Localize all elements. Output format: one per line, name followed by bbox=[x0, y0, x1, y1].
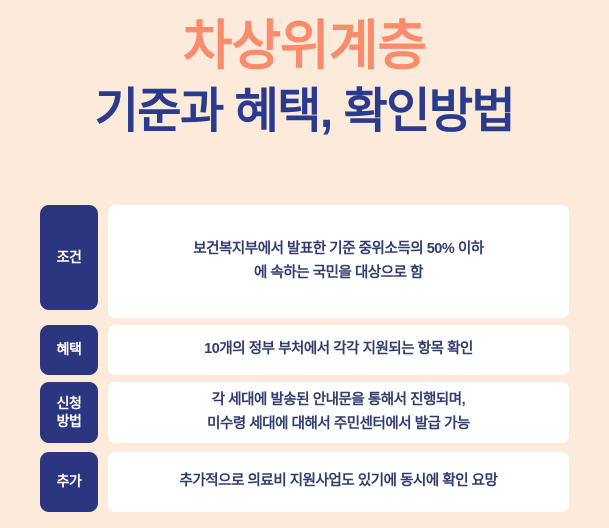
info-row: 혜택 10개의 정부 부처에서 각각 지원되는 항목 확인 bbox=[0, 325, 609, 375]
info-row: 신청 방법 각 세대에 발송된 안내문을 통해서 진행되며, 미수령 세대에 대… bbox=[0, 382, 609, 443]
row-content-text: 10개의 정부 부처에서 각각 지원되는 항목 확인 bbox=[108, 338, 569, 361]
row-content-card-additional: 추가적으로 의료비 지원사업도 있기에 동시에 확인 요망 bbox=[108, 452, 569, 512]
infographic-canvas: 차상위계층 기준과 혜택, 확인방법 조건 보건복지부에서 발표한 기준 중위소… bbox=[0, 0, 609, 528]
row-label-text: 혜택 bbox=[57, 341, 82, 359]
row-label-text: 신청 방법 bbox=[57, 395, 82, 430]
info-row-list: 조건 보건복지부에서 발표한 기준 중위소득의 50% 이하 에 속하는 국민을… bbox=[0, 0, 609, 528]
info-row: 조건 보건복지부에서 발표한 기준 중위소득의 50% 이하 에 속하는 국민을… bbox=[0, 205, 609, 318]
row-content-card-application-method: 각 세대에 발송된 안내문을 통해서 진행되며, 미수령 세대에 대해서 주민센… bbox=[108, 382, 569, 443]
row-label-badge-application-method: 신청 방법 bbox=[40, 382, 98, 443]
row-content-text: 추가적으로 의료비 지원사업도 있기에 동시에 확인 요망 bbox=[108, 470, 569, 493]
row-label-text: 추가 bbox=[57, 473, 82, 491]
row-label-badge-condition: 조건 bbox=[40, 205, 98, 310]
row-label-badge-benefit: 혜택 bbox=[40, 325, 98, 375]
row-content-text: 보건복지부에서 발표한 기준 중위소득의 50% 이하 에 속하는 국민을 대상… bbox=[108, 238, 569, 285]
row-content-card-condition: 보건복지부에서 발표한 기준 중위소득의 50% 이하 에 속하는 국민을 대상… bbox=[108, 205, 569, 318]
row-label-text: 조건 bbox=[57, 249, 82, 267]
row-content-text: 각 세대에 발송된 안내문을 통해서 진행되며, 미수령 세대에 대해서 주민센… bbox=[108, 389, 569, 436]
row-label-badge-additional: 추가 bbox=[40, 452, 98, 512]
row-content-card-benefit: 10개의 정부 부처에서 각각 지원되는 항목 확인 bbox=[108, 325, 569, 375]
info-row: 추가 추가적으로 의료비 지원사업도 있기에 동시에 확인 요망 bbox=[0, 452, 609, 512]
